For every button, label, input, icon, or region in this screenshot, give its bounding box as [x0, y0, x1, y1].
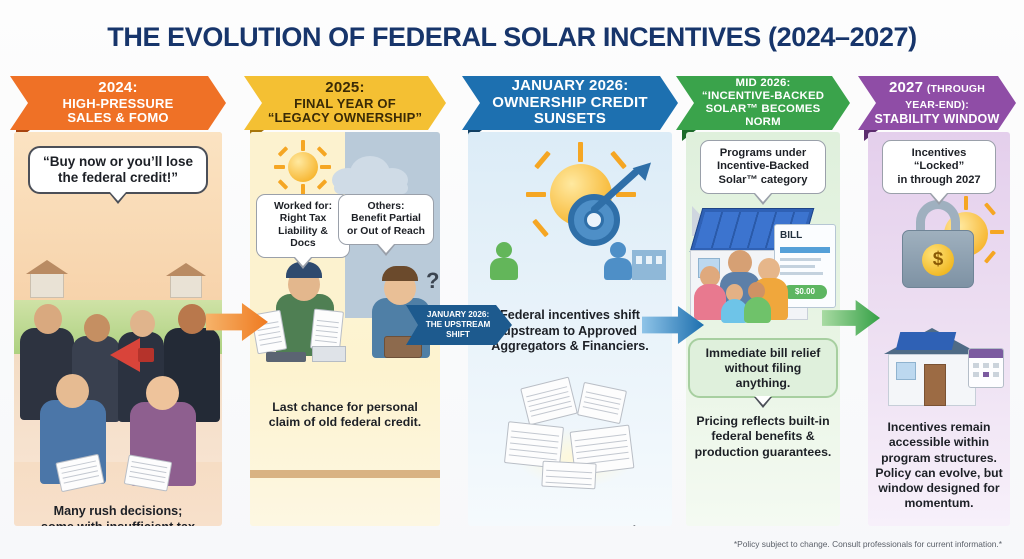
- banner-2027: 2027 (THROUGH YEAR-END): STABILITY WINDO…: [858, 76, 1016, 130]
- caption-2025-line2: claim of old federal credit.: [256, 415, 434, 430]
- banner-jan2026-line1: JANUARY 2026:: [492, 78, 647, 95]
- cloud-icon: [332, 154, 410, 190]
- banner-2025: 2025: FINAL YEAR OF “LEGACY OWNERSHIP”: [244, 76, 446, 130]
- sun-icon: [288, 152, 318, 182]
- column-jan-2026: JANUARY 2026: OWNERSHIP CREDIT SUNSETS: [454, 76, 686, 526]
- infographic-root: THE EVOLUTION OF FEDERAL SOLAR INCENTIVE…: [0, 0, 1024, 559]
- column-2024-body: “Buy now or you’ll lose the federal cred…: [14, 132, 222, 526]
- label-january-2026-upstream-shift: JANUARY 2026: THE UPSTREAM SHIFT: [406, 305, 512, 345]
- banner-jan-2026: JANUARY 2026: OWNERSHIP CREDIT SUNSETS: [462, 76, 678, 130]
- caption-2027-line5: window designed for: [870, 481, 1008, 496]
- column-mid-2026-body: Programs under Incentive-Backed Solar™ c…: [686, 132, 840, 526]
- dollar-coin-icon: $: [922, 244, 954, 276]
- calendar-icon: [968, 348, 1004, 388]
- banner-2025-line1: 2025:: [268, 80, 422, 97]
- banner-mid2026-line2: “INCENTIVE-BACKED: [692, 90, 834, 103]
- footnote-disclaimer: *Policy subject to change. Consult profe…: [734, 539, 1002, 549]
- caption-jan2026-lower: Homeowner paperwork largely goes away.: [472, 524, 668, 526]
- caption-jan2026b-line1: Homeowner paperwork: [472, 524, 668, 526]
- caption-jan2026-line3: Aggregators & Financiers.: [472, 339, 668, 355]
- banner-mid2026-line3: SOLAR™ BECOMES NORM: [692, 103, 834, 129]
- illustration-lock-sun: $: [868, 190, 1010, 308]
- programs-line1: Programs under: [709, 147, 817, 160]
- page-title: THE EVOLUTION OF FEDERAL SOLAR INCENTIVE…: [0, 22, 1024, 53]
- worked-for-line1: Worked for:: [265, 201, 341, 213]
- shift-label-line1: JANUARY 2026:: [426, 310, 491, 320]
- illustration-paperwork-vanishing: [468, 376, 672, 526]
- illustration-family-house-bill: BILL $0.00: [686, 200, 840, 332]
- illustration-house-calendar: [868, 314, 1010, 418]
- caption-mid2026-pricing: Pricing reflects built-in federal benefi…: [688, 414, 838, 460]
- growth-arrow-icon: [588, 162, 650, 224]
- caption-2027-line2: accessible within: [870, 435, 1008, 450]
- banner-mid2026-line1: MID 2026:: [692, 77, 834, 90]
- illustration-worried-couple: [14, 354, 222, 504]
- caption-2027-line4: Policy can evolve, but: [870, 466, 1008, 481]
- caption-2024-line2: some with insufficient tax: [20, 520, 216, 526]
- bubble-others: Others: Benefit Partial or Out of Reach: [338, 194, 434, 245]
- caption-2027-line1: Incentives remain: [870, 420, 1008, 435]
- banner-2025-line3: “LEGACY OWNERSHIP”: [268, 111, 422, 126]
- others-line1: Others:: [347, 201, 425, 213]
- banner-2024-line3: SALES & FOMO: [63, 111, 174, 126]
- bubble-programs-under: Programs under Incentive-Backed Solar™ c…: [700, 140, 826, 194]
- speech-bubble-buy-now: “Buy now or you’ll lose the federal cred…: [28, 146, 208, 194]
- banner-mid-2026: MID 2026: “INCENTIVE-BACKED SOLAR™ BECOM…: [676, 76, 850, 130]
- bubble-line1: “Buy now or you’ll lose: [38, 154, 198, 170]
- caption-2025-line1: Last chance for personal: [256, 400, 434, 415]
- caption-2027: Incentives remain accessible within prog…: [870, 420, 1008, 512]
- caption-2024: Many rush decisions; some with insuffici…: [20, 504, 216, 526]
- banner-2027-line2: STABILITY WINDOW: [872, 112, 1002, 126]
- bubble-incentives-locked: Incentives “Locked” in through 2027: [882, 140, 996, 194]
- bill-amount: $0.00: [783, 285, 827, 299]
- banner-2024-line2: HIGH-PRESSURE: [63, 97, 174, 112]
- bill-label: BILL: [780, 230, 802, 241]
- column-mid-2026: MID 2026: “INCENTIVE-BACKED SOLAR™ BECOM…: [672, 76, 854, 526]
- column-2025: 2025: FINAL YEAR OF “LEGACY OWNERSHIP”: [236, 76, 454, 526]
- programs-line2: Incentive-Backed: [709, 160, 817, 173]
- shift-label-line2: THE UPSTREAM: [426, 320, 491, 330]
- mid2026-pricing-line3: production guarantees.: [688, 445, 838, 460]
- banner-jan2026-line3: SUNSETS: [492, 111, 647, 128]
- others-line2: Benefit Partial: [347, 213, 425, 225]
- column-2027: 2027 (THROUGH YEAR-END): STABILITY WINDO…: [854, 76, 1024, 526]
- programs-line3: Solar™ category: [709, 174, 817, 187]
- locked-line1: Incentives “Locked”: [891, 147, 987, 174]
- shift-label-line3: SHIFT: [426, 330, 491, 340]
- caption-2027-line3: program structures.: [870, 451, 1008, 466]
- caption-2027-line6: momentum.: [870, 496, 1008, 511]
- caption-bubble-bill-relief: Immediate bill relief without filing any…: [688, 338, 838, 398]
- column-2024: 2024: HIGH-PRESSURE SALES & FOMO: [0, 76, 236, 526]
- banner-jan2026-line2: OWNERSHIP CREDIT: [492, 95, 647, 112]
- mid2026-pricing-line2: federal benefits &: [688, 429, 838, 444]
- caption-2024-line1: Many rush decisions;: [20, 504, 216, 520]
- caption-2025: Last chance for personal claim of old fe…: [256, 400, 434, 431]
- banner-2027-year: 2027: [889, 79, 923, 96]
- banner-2025-line2: FINAL YEAR OF: [268, 97, 422, 112]
- worked-for-line3: Liability & Docs: [265, 226, 341, 251]
- worked-for-line2: Right Tax: [265, 213, 341, 225]
- question-mark-icon: ?: [426, 268, 439, 294]
- mid2026-relief-line2: without filing anything.: [698, 361, 828, 391]
- bubble-line2: the federal credit!”: [38, 170, 198, 186]
- mid2026-relief-line1: Immediate bill relief: [698, 346, 828, 361]
- locked-line2: in through 2027: [891, 174, 987, 187]
- illustration-upstream-shift: [468, 138, 672, 288]
- bubble-worked-for: Worked for: Right Tax Liability & Docs: [256, 194, 350, 258]
- banner-2024: 2024: HIGH-PRESSURE SALES & FOMO: [10, 76, 226, 130]
- column-2027-body: Incentives “Locked” in through 2027 $: [868, 132, 1010, 526]
- mid2026-pricing-line1: Pricing reflects built-in: [688, 414, 838, 429]
- others-line3: or Out of Reach: [347, 226, 425, 238]
- banner-2024-line1: 2024:: [63, 80, 174, 97]
